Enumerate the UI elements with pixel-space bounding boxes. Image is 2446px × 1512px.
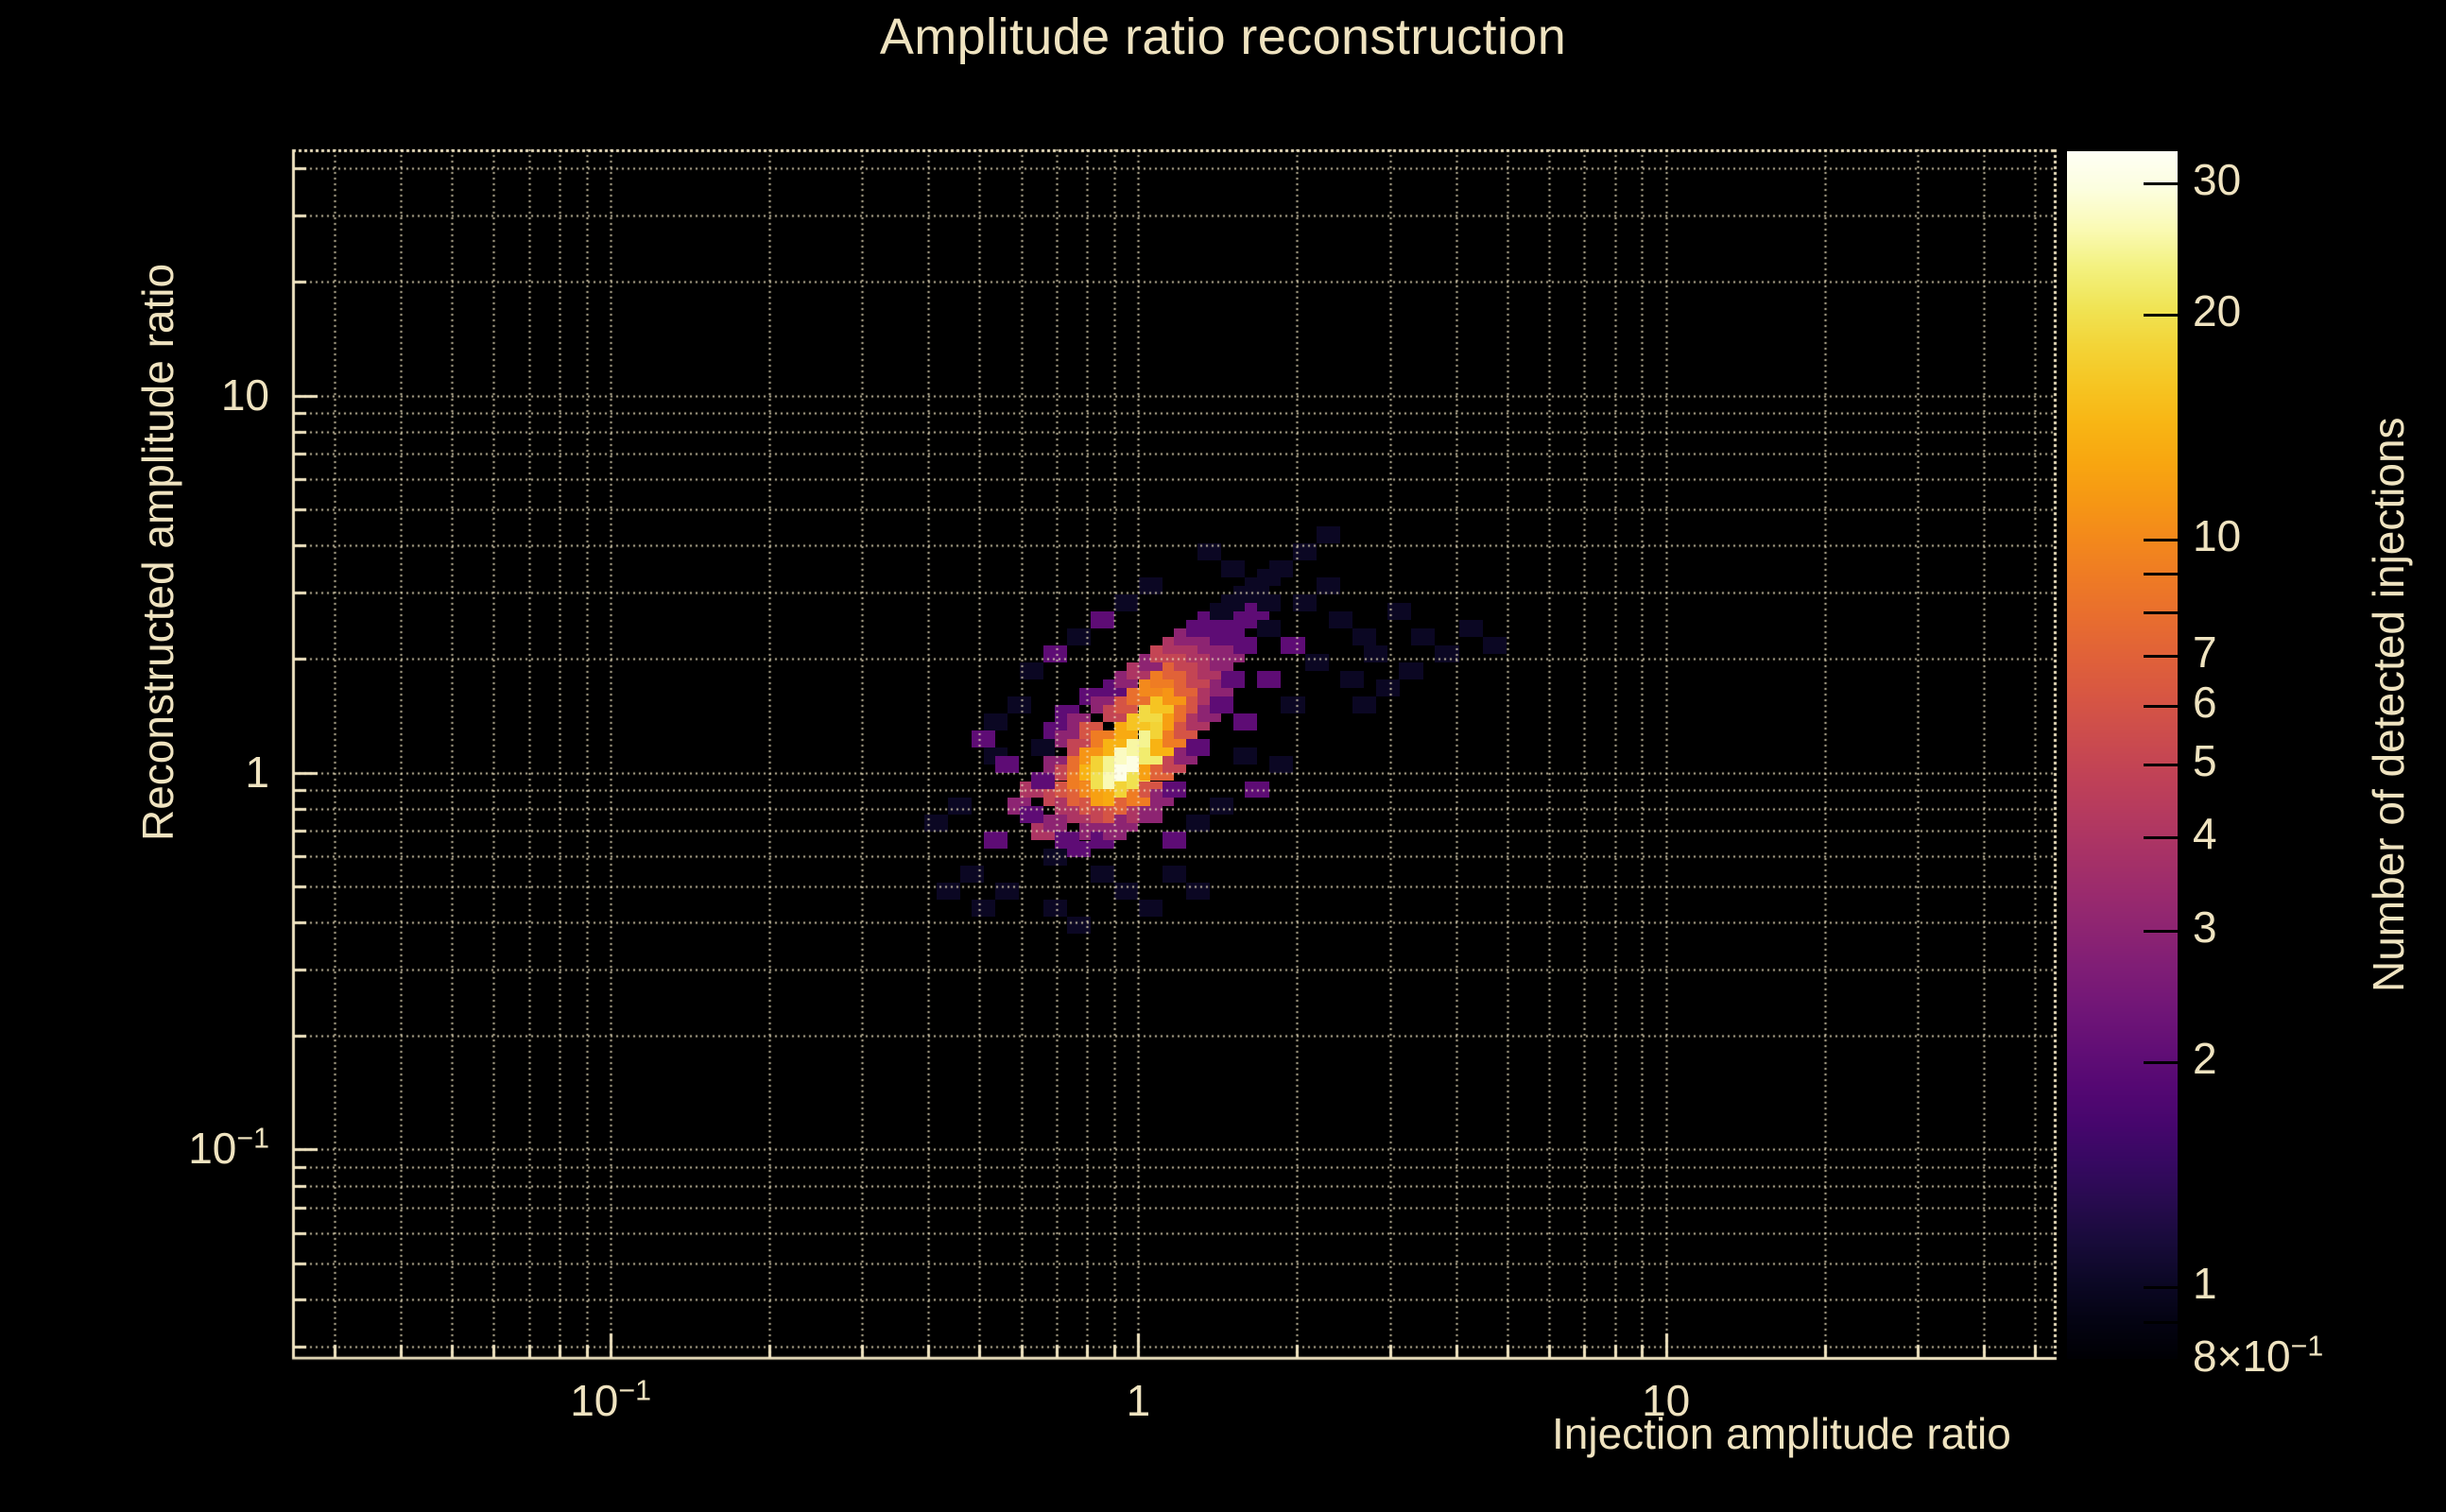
colorbar-tick — [2144, 314, 2178, 317]
plot-root: Amplitude ratio reconstruction 10 1 10−1… — [0, 0, 2446, 1512]
colorbar-tick-label: 6 — [2193, 677, 2217, 728]
plot-frame — [293, 149, 2057, 1358]
colorbar-tick — [2144, 611, 2178, 614]
colorbar-tick-label: 7 — [2193, 627, 2217, 678]
colorbar-title: Number of detected injections — [2363, 417, 2414, 992]
colorbar-tick — [2144, 655, 2178, 658]
y-axis-tick-label: 10−1 — [0, 1123, 269, 1174]
colorbar-tick-label: 3 — [2193, 902, 2217, 953]
colorbar-tick-label: 20 — [2193, 285, 2241, 336]
page-title: Amplitude ratio reconstruction — [0, 8, 2446, 66]
colorbar-tick — [2144, 1061, 2178, 1064]
colorbar — [2067, 151, 2178, 1359]
colorbar-gradient — [2067, 151, 2178, 1359]
colorbar-tick — [2144, 573, 2178, 576]
colorbar-tick-label: 4 — [2193, 808, 2217, 859]
x-axis-tick-label: 10−1 — [540, 1375, 681, 1426]
colorbar-tick-label: 10 — [2193, 510, 2241, 561]
colorbar-tick-label: 8×10−1 — [2193, 1331, 2323, 1382]
colorbar-tick-label: 1 — [2193, 1258, 2217, 1309]
x-axis-title: Injection amplitude ratio — [1552, 1408, 2011, 1459]
colorbar-tick — [2144, 1286, 2178, 1289]
colorbar-tick — [2144, 539, 2178, 541]
colorbar-tick-label: 2 — [2193, 1033, 2217, 1084]
colorbar-tick — [2144, 836, 2178, 839]
y-axis-title: Reconstructed amplitude ratio — [132, 264, 183, 841]
colorbar-tick — [2144, 705, 2178, 708]
colorbar-tick — [2144, 930, 2178, 933]
colorbar-tick — [2144, 1321, 2178, 1324]
colorbar-tick — [2144, 764, 2178, 766]
colorbar-tick-label: 30 — [2193, 154, 2241, 205]
colorbar-tick — [2144, 1359, 2178, 1362]
colorbar-tick — [2144, 182, 2178, 185]
grid-canvas — [293, 149, 2057, 1358]
x-axis-tick-label: 1 — [1067, 1375, 1209, 1426]
colorbar-tick-label: 5 — [2193, 735, 2217, 786]
